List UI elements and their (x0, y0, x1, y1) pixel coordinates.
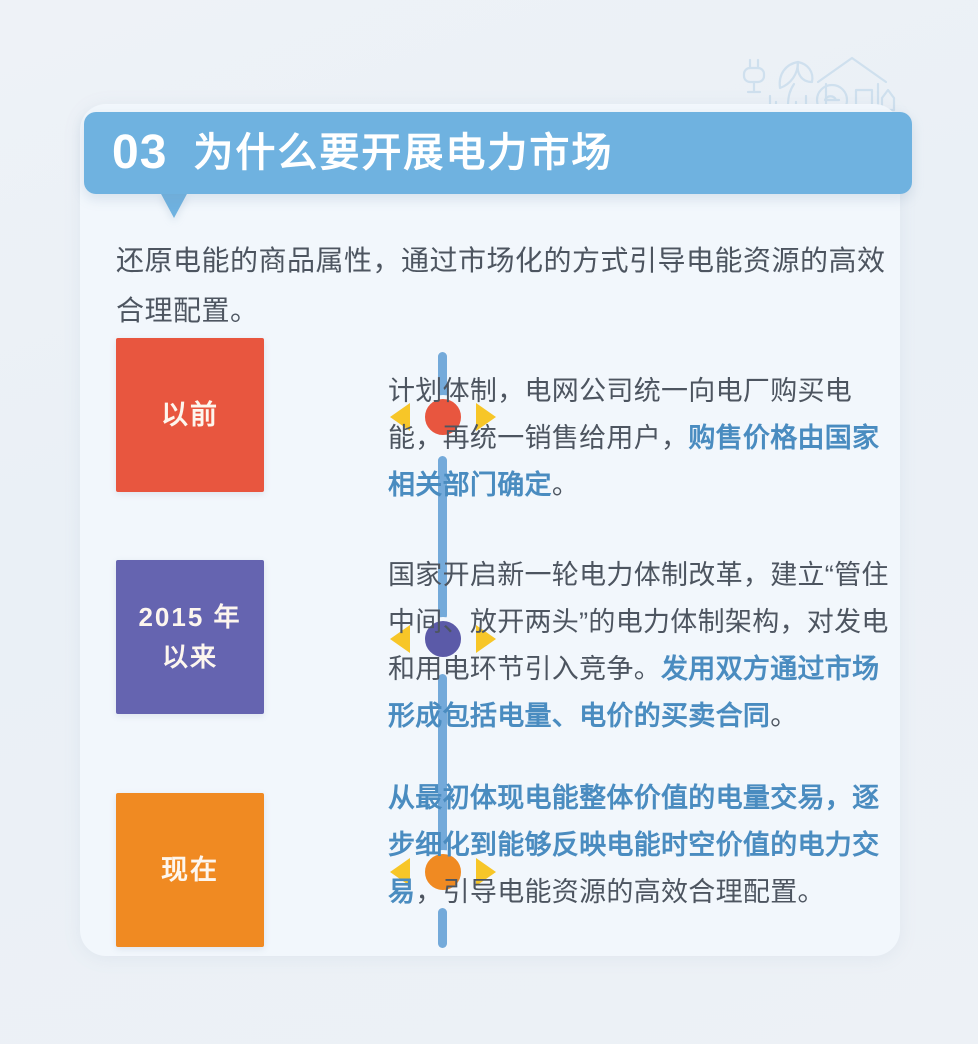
row-description: 计划体制，电网公司统一向电厂购买电能，再统一销售给用户，购售价格由国家相关部门确… (388, 368, 900, 509)
row-description: 国家开启新一轮电力体制改革，建立“管住中间、放开两头”的电力体制架构，对发电和用… (388, 552, 900, 740)
section-number: 03 (112, 129, 167, 177)
text-segment: ，引导电能资源的高效合理配置。 (415, 877, 825, 907)
row-description: 从最初体现电能整体价值的电量交易，逐步细化到能够反映电能时空价值的电力交易，引导… (388, 775, 900, 916)
era-label: 2015 年 (138, 597, 241, 637)
text-segment: 。 (770, 701, 797, 731)
banner-tail (160, 192, 188, 218)
timeline: 以前 计划体制，电网公司统一向电厂购买电能，再统一销售给用户，购售价格由国家相关… (116, 338, 900, 948)
era-label-line2: 以来 (162, 637, 218, 677)
page-title: 为什么要开展电力市场 (193, 133, 613, 173)
era-label: 以前 (161, 395, 219, 435)
leaf-icon (780, 62, 813, 106)
house-icon (818, 58, 894, 110)
plug-icon (744, 60, 764, 92)
era-label: 现在 (161, 850, 219, 890)
era-box: 现在 (116, 793, 264, 947)
header-banner: 03 为什么要开展电力市场 (84, 112, 912, 194)
era-box: 以前 (116, 338, 264, 492)
intro-paragraph: 还原电能的商品属性，通过市场化的方式引导电能资源的高效合理配置。 (116, 236, 888, 336)
text-segment: 。 (552, 470, 579, 500)
section-header: 03 为什么要开展电力市场 (84, 112, 912, 208)
era-box: 2015 年 以来 (116, 560, 264, 714)
